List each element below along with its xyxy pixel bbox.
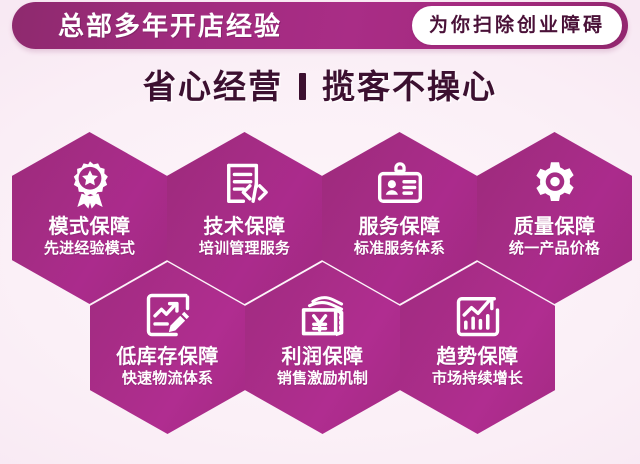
hex-title: 技术保障 bbox=[204, 216, 286, 238]
award-medal-icon bbox=[61, 156, 119, 214]
code-document-icon bbox=[216, 156, 274, 214]
promo-banner: 总部多年开店经验 为你扫除创业障碍 省心经营 揽客不操心 模式保障 先进经验模式 bbox=[0, 0, 640, 464]
hex-title: 质量保障 bbox=[514, 216, 596, 238]
hex-subtitle: 统一产品价格 bbox=[509, 239, 600, 259]
hexagon-grid: 模式保障 先进经验模式 技术保障 培训管理服务 bbox=[0, 118, 640, 448]
hex-subtitle: 标准服务体系 bbox=[354, 239, 445, 259]
hex-title: 利润保障 bbox=[282, 346, 364, 368]
hex-subtitle: 先进经验模式 bbox=[44, 239, 135, 259]
chart-pencil-icon bbox=[139, 286, 197, 344]
hex-subtitle: 快速物流体系 bbox=[122, 369, 213, 389]
header-badge: 为你扫除创业障碍 bbox=[412, 6, 622, 45]
hex-title: 低库存保障 bbox=[116, 346, 219, 368]
header-badge-label: 为你扫除创业障碍 bbox=[429, 16, 605, 35]
hex-subtitle: 销售激励机制 bbox=[277, 369, 368, 389]
hex-title: 服务保障 bbox=[359, 216, 441, 238]
hex-subtitle: 市场持续增长 bbox=[432, 369, 523, 389]
header-headline: 总部多年开店经验 bbox=[58, 13, 282, 39]
hex-subtitle: 培训管理服务 bbox=[199, 239, 290, 259]
page-title: 省心经营 揽客不操心 bbox=[0, 62, 640, 110]
hex-title: 模式保障 bbox=[49, 216, 131, 238]
growth-chart-icon bbox=[449, 286, 507, 344]
hex-title: 趋势保障 bbox=[437, 346, 519, 368]
yuan-money-icon bbox=[294, 286, 352, 344]
title-separator-bar bbox=[299, 73, 306, 100]
id-badge-icon bbox=[371, 156, 429, 214]
page-title-right: 揽客不操心 bbox=[322, 70, 497, 103]
gear-icon bbox=[526, 156, 584, 214]
header-bar: 总部多年开店经验 为你扫除创业障碍 bbox=[12, 2, 628, 49]
page-title-left: 省心经营 bbox=[143, 70, 283, 103]
